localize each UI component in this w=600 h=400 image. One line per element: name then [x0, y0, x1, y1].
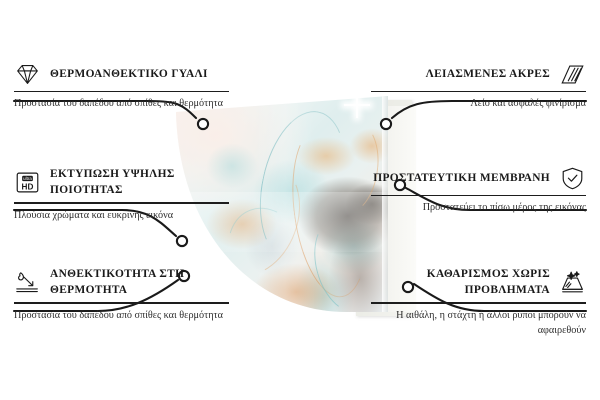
svg-text:HD: HD: [22, 182, 34, 191]
divider: [14, 302, 229, 303]
infographic-canvas: ΘΕΡΜΟΑΝΘΕΚΤΙΚΟ ΓΥΑΛΙ Προστασία του δαπέδ…: [0, 0, 600, 400]
feature-heat-durability: ΑΝΘΕΚΤΙΚΟΤΗΤΑ ΣΤΗ ΘΕΡΜΟΤΗΤΑ Προστασία το…: [14, 266, 229, 324]
svg-text:ultra: ultra: [23, 176, 32, 181]
divider: [14, 202, 229, 203]
feature-header: ΑΝΘΕΚΤΙΚΟΤΗΤΑ ΣΤΗ ΘΕΡΜΟΤΗΤΑ: [14, 266, 229, 298]
divider: [371, 91, 586, 92]
sponge-sparkle-icon: [559, 270, 586, 295]
feature-polished-edges: ΛΕΙΑΣΜΕΝΕΣ ΑΚΡΕΣ Λείο και ασφαλές φινίρι…: [371, 62, 586, 112]
feature-title: ΠΡΟΣΤΑΤΕΥΤΙΚΗ ΜΕΜΒΡΑΝΗ: [373, 170, 550, 186]
feature-title: ΚΑΘΑΡΙΣΜΟΣ ΧΩΡΙΣ ΠΡΟΒΛΗΜΑΤΑ: [371, 266, 550, 298]
feature-protective-membrane: ΠΡΟΣΤΑΤΕΥΤΙΚΗ ΜΕΜΒΡΑΝΗ Προστατεύει το πί…: [371, 166, 586, 216]
feature-hassle-free-cleaning: ΚΑΘΑΡΙΣΜΟΣ ΧΩΡΙΣ ΠΡΟΒΛΗΜΑΤΑ Η αιθάλη, η …: [371, 266, 586, 338]
feature-title: ΕΚΤΥΠΩΣΗ ΥΨΗΛΗΣ ΠΟΙΟΤΗΤΑΣ: [50, 166, 229, 198]
glass-reflection-vertical: [254, 96, 316, 312]
feature-description: Προστατεύει το πίσω μέρος της εικόνας: [371, 201, 586, 216]
feature-header: ultra HD ΕΚΤΥΠΩΣΗ ΥΨΗΛΗΣ ΠΟΙΟΤΗΤΑΣ: [14, 166, 229, 198]
flame-deflect-icon: [14, 270, 41, 295]
feature-description: Η αιθάλη, η στάχτη ή άλλοι ρύποι μπορούν…: [371, 309, 586, 339]
feature-description: Προστασία του δαπέδου από σπίθες και θερ…: [14, 97, 229, 112]
divider: [371, 302, 586, 303]
divider: [14, 91, 229, 92]
feature-header: ΛΕΙΑΣΜΕΝΕΣ ΑΚΡΕΣ: [371, 62, 586, 87]
feature-heat-resistant-glass: ΘΕΡΜΟΑΝΘΕΚΤΙΚΟ ΓΥΑΛΙ Προστασία του δαπέδ…: [14, 62, 229, 112]
feature-header: ΠΡΟΣΤΑΤΕΥΤΙΚΗ ΜΕΜΒΡΑΝΗ: [371, 166, 586, 191]
feature-description: Λείο και ασφαλές φινίρισμα: [371, 97, 586, 112]
shield-check-icon: [559, 166, 586, 191]
feature-title: ΑΝΘΕΚΤΙΚΟΤΗΤΑ ΣΤΗ ΘΕΡΜΟΤΗΤΑ: [50, 266, 229, 298]
feature-high-quality-print: ultra HD ΕΚΤΥΠΩΣΗ ΥΨΗΛΗΣ ΠΟΙΟΤΗΤΑΣ Πλούσ…: [14, 166, 229, 224]
diagonal-stripes-icon: [559, 62, 586, 87]
diamond-icon: [14, 62, 41, 87]
divider: [371, 195, 586, 196]
feature-header: ΚΑΘΑΡΙΣΜΟΣ ΧΩΡΙΣ ΠΡΟΒΛΗΜΑΤΑ: [371, 266, 586, 298]
feature-title: ΛΕΙΑΣΜΕΝΕΣ ΑΚΡΕΣ: [426, 66, 550, 82]
feature-header: ΘΕΡΜΟΑΝΘΕΚΤΙΚΟ ΓΥΑΛΙ: [14, 62, 229, 87]
feature-description: Προστασία του δαπέδου από σπίθες και θερ…: [14, 309, 229, 324]
ultra-hd-icon: ultra HD: [14, 170, 41, 195]
feature-description: Πλούσια χρώματα και ευκρινής εικόνα: [14, 209, 229, 224]
feature-title: ΘΕΡΜΟΑΝΘΕΚΤΙΚΟ ΓΥΑΛΙ: [50, 66, 208, 82]
